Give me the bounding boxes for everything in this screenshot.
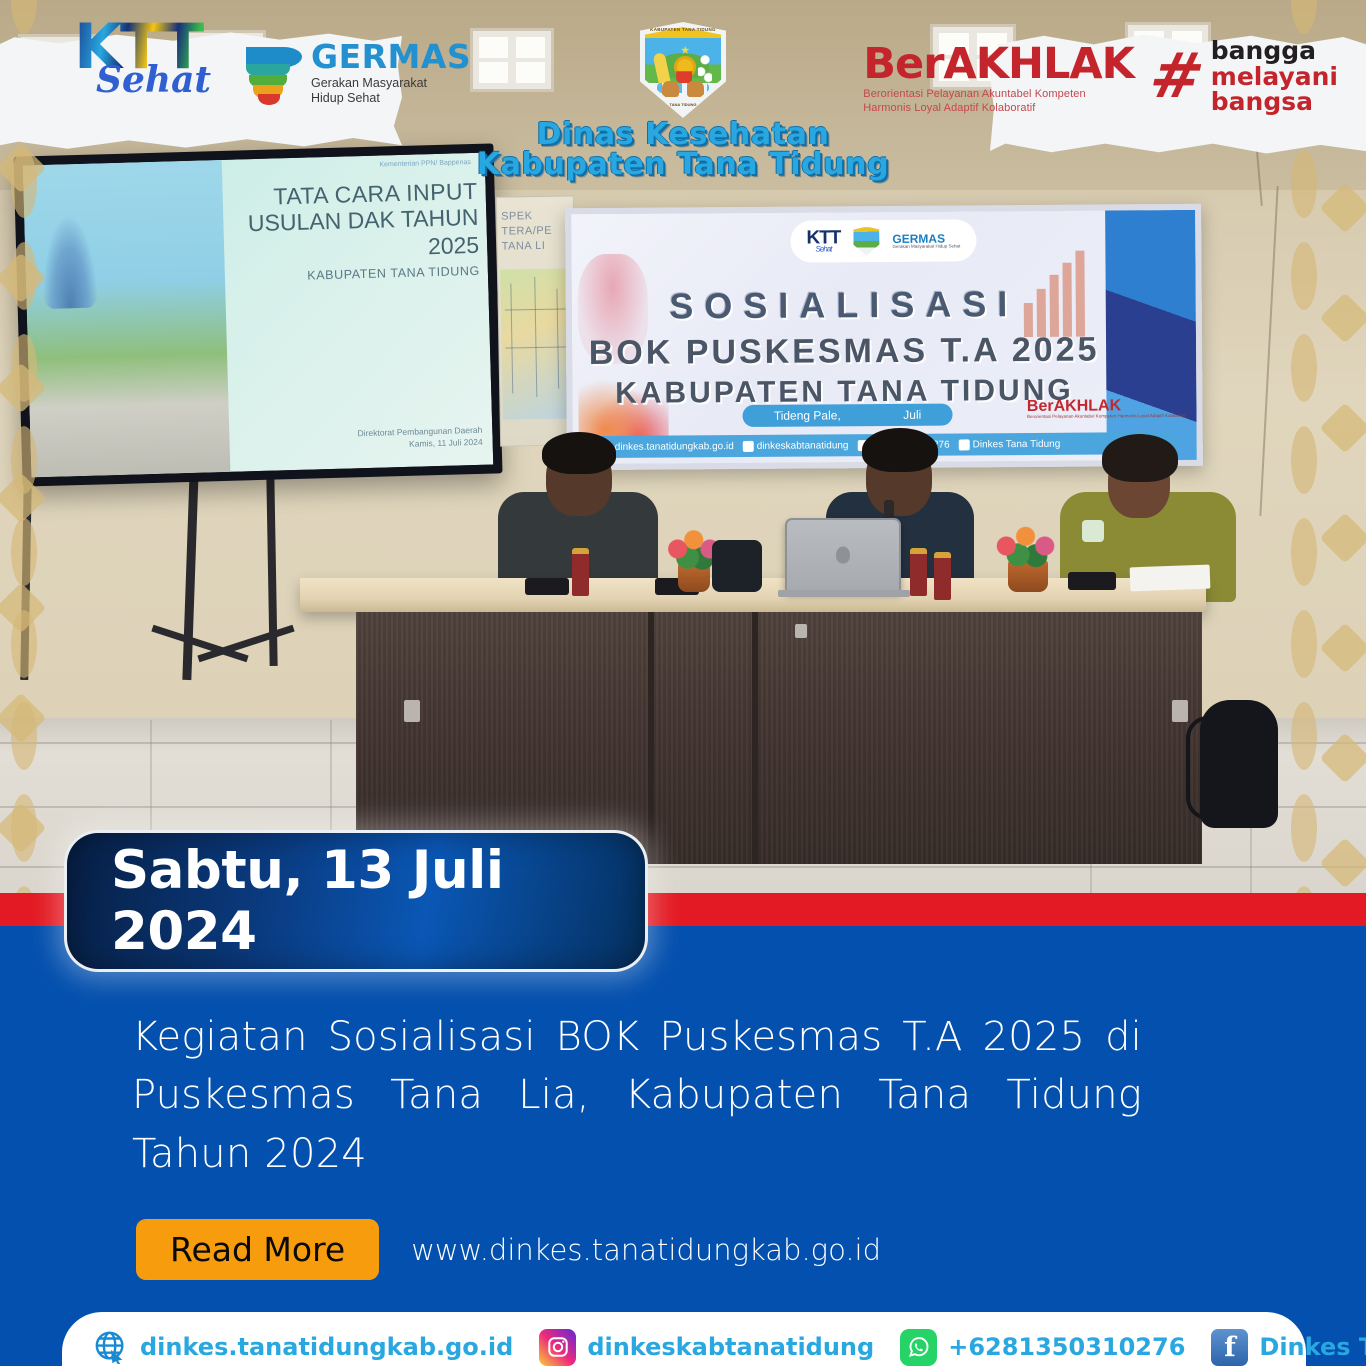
speaker-right-hair bbox=[1102, 434, 1178, 482]
footer-instagram-label: dinkeskabtanatidung bbox=[587, 1333, 874, 1361]
presentation-slide: Kementerian PPN/ Bappenas TATA CARA INPU… bbox=[23, 153, 494, 478]
footer-item-whatsapp[interactable]: +6281350310276 bbox=[900, 1329, 1185, 1366]
banner-contact-item: Dinkes Tana Tidung bbox=[959, 438, 1061, 450]
facebook-glyph: f bbox=[1224, 1334, 1236, 1361]
wall-poster-text: SPEK TERA/PE TANA LI bbox=[501, 209, 552, 254]
footer-facebook-label: Dinkes Tana Tidung bbox=[1259, 1333, 1366, 1361]
emblem-hand bbox=[687, 81, 704, 97]
table-hinge bbox=[1172, 700, 1188, 722]
website-url[interactable]: www.dinkes.tanatidungkab.go.id bbox=[411, 1233, 881, 1267]
banner-place: Tideng Pale, bbox=[774, 408, 841, 422]
table-hinge bbox=[795, 624, 807, 638]
whatsapp-icon bbox=[900, 1329, 937, 1366]
backpack bbox=[1200, 700, 1278, 828]
projector-screen: Kementerian PPN/ Bappenas TATA CARA INPU… bbox=[13, 143, 502, 486]
read-more-button[interactable]: Read More bbox=[136, 1219, 379, 1280]
speaker-center-hair bbox=[862, 428, 938, 472]
agency-title-line2: Kabupaten Tana Tidung bbox=[0, 150, 1366, 180]
emblem-inner bbox=[645, 27, 721, 112]
instagram-icon bbox=[539, 1329, 576, 1366]
banner-month: Juli bbox=[903, 408, 921, 422]
banner-emblem-icon bbox=[853, 227, 879, 256]
drink-bottle bbox=[934, 552, 951, 600]
emblem-top-text: KABUPATEN TANA TIDUNG bbox=[640, 27, 726, 32]
agency-title-line1: Dinas Kesehatan bbox=[0, 120, 1366, 150]
instagram-icon bbox=[743, 440, 754, 451]
footer-item-instagram[interactable]: dinkeskabtanatidung bbox=[539, 1329, 874, 1366]
laptop bbox=[785, 518, 901, 592]
cta-row: Read More www.dinkes.tanatidungkab.go.id bbox=[136, 1219, 881, 1280]
speaker-left-hair bbox=[542, 432, 616, 474]
agency-title: Dinas Kesehatan Kabupaten Tana Tidung bbox=[0, 120, 1366, 180]
slide-subtitle: KABUPATEN TANA TIDUNG bbox=[147, 263, 480, 286]
banner-berakhlak-logo: BerAKHLAK Berorientasi Pelayanan Akuntab… bbox=[1027, 397, 1187, 419]
banner-title-line2: BOK PUSKESMAS T.A 2025 bbox=[572, 330, 1116, 373]
slide-text-block: TATA CARA INPUT USULAN DAK TAHUN 2025 KA… bbox=[145, 179, 480, 287]
date-text: Sabtu, 13 Juli 2024 bbox=[111, 840, 645, 962]
banner-ktt-logo: KTT Sehat bbox=[806, 230, 840, 253]
banner-title-line1: SOSIALISASI bbox=[572, 282, 1116, 328]
poster-root: Kementerian PPN/ Bappenas TATA CARA INPU… bbox=[0, 0, 1366, 1366]
tana-tidung-emblem-icon: KABUPATEN TANA TIDUNG TANA TIDUNG bbox=[640, 22, 726, 118]
footer-whatsapp-label: +6281350310276 bbox=[948, 1333, 1185, 1361]
flower-bouquet bbox=[990, 524, 1064, 568]
banner-berakhlak-title: BerAKHLAK bbox=[1027, 397, 1121, 415]
footer-website-label: dinkes.tanatidungkab.go.id bbox=[140, 1333, 513, 1361]
slide-fountain-graphic bbox=[40, 213, 98, 308]
emblem-hand bbox=[662, 81, 679, 97]
slide-footer: Direktorat Pembangunan Daerah Kamis, 11 … bbox=[357, 423, 482, 452]
banner-place-bar: Tideng Pale, Juli bbox=[742, 404, 952, 427]
emblem-bottom-text: TANA TIDUNG bbox=[640, 102, 726, 107]
drink-bottle bbox=[572, 548, 589, 596]
date-badge: Sabtu, 13 Juli 2024 bbox=[64, 830, 648, 972]
social-footer-bar: dinkes.tanatidungkab.go.id dinkeskabtana… bbox=[62, 1312, 1306, 1366]
event-description: Kegiatan Sosialisasi BOK Puskesmas T.A 2… bbox=[132, 1008, 1142, 1183]
drink-bottle bbox=[910, 548, 927, 596]
laptop-base bbox=[778, 590, 910, 597]
facebook-icon: f bbox=[1211, 1329, 1248, 1366]
notebook-paper bbox=[1130, 565, 1211, 592]
banner-title-block: SOSIALISASI BOK PUSKESMAS T.A 2025 KABUP… bbox=[572, 282, 1117, 411]
facebook-icon bbox=[959, 439, 970, 450]
table-panel-seam bbox=[752, 612, 758, 864]
phone-on-table bbox=[1068, 572, 1116, 590]
bag-on-table bbox=[712, 540, 762, 592]
footer-item-facebook[interactable]: f Dinkes Tana Tidung bbox=[1211, 1329, 1366, 1366]
banner-germas-logo: GERMAS Gerakan Masyarakat Hidup Sehat bbox=[892, 232, 960, 249]
banner-logo-strip: KTT Sehat GERMAS Gerakan Masyarakat Hidu… bbox=[790, 219, 976, 262]
speaker-right-badge bbox=[1082, 520, 1104, 542]
table-panel-seam bbox=[648, 612, 654, 864]
globe-icon bbox=[92, 1329, 129, 1366]
banner-contact-item: dinkes.tanatidungkab.go.id bbox=[601, 441, 734, 453]
banner-contact-item: dinkeskabtanatidung bbox=[743, 440, 849, 452]
conference-table-front bbox=[356, 612, 1202, 864]
agency-header: KABUPATEN TANA TIDUNG TANA TIDUNG Dinas … bbox=[0, 22, 1366, 180]
banner-germas-sub: Gerakan Masyarakat Hidup Sehat bbox=[892, 244, 960, 249]
table-hinge bbox=[404, 700, 420, 722]
phone-on-table bbox=[525, 578, 569, 595]
footer-item-website[interactable]: dinkes.tanatidungkab.go.id bbox=[92, 1329, 513, 1366]
